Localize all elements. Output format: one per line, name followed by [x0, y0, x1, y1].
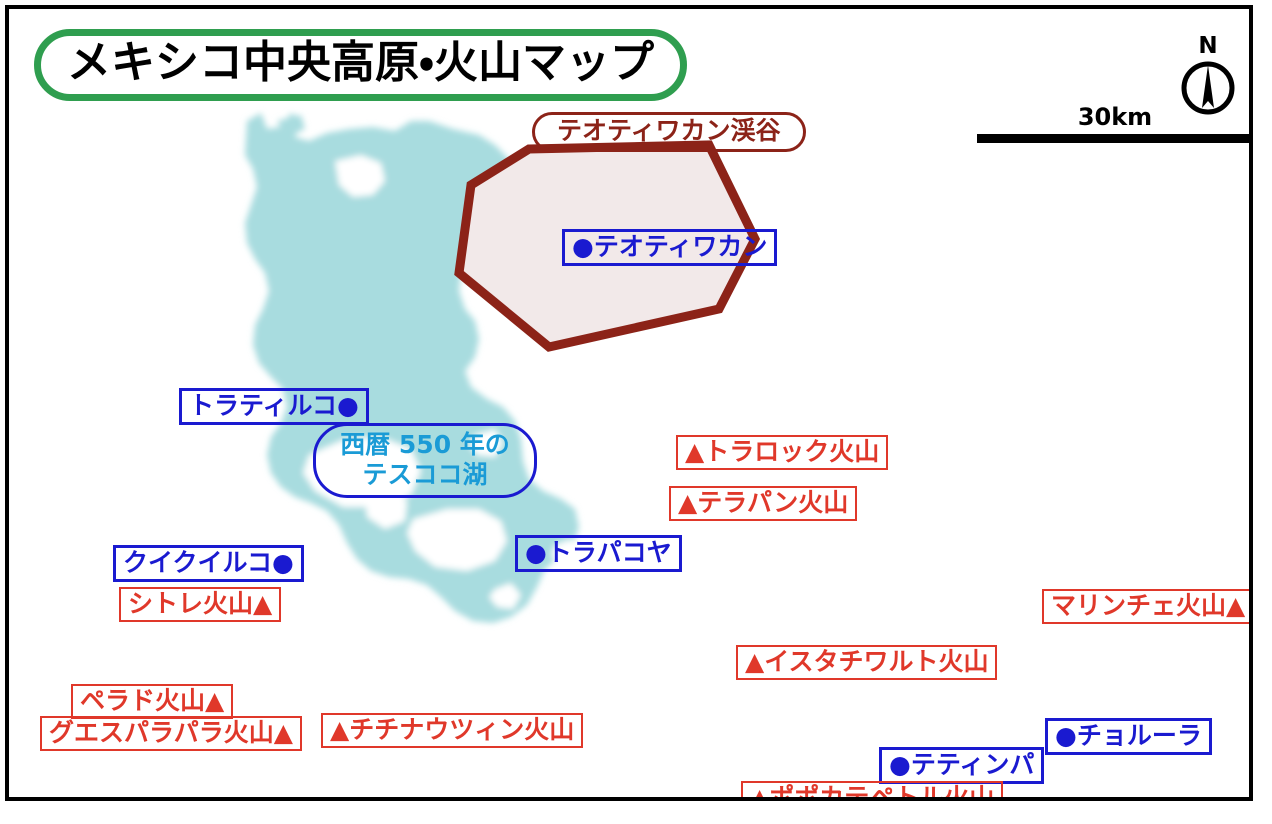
compass-north-label: N	[1177, 35, 1239, 58]
volcano-label-telapon[interactable]: ▲テラパン火山	[669, 486, 857, 521]
volcano-label-guespalapa[interactable]: グエスパラパラ火山▲	[40, 716, 302, 751]
lake-label-line2: テスココ湖	[334, 460, 516, 490]
volcano-label-tlaloc[interactable]: ▲トラロック火山	[676, 435, 888, 470]
site-label-tlatilco[interactable]: トラティルコ●	[179, 388, 369, 425]
volcano-label-iztaccihuatl[interactable]: ▲イスタチワルト火山	[736, 645, 997, 680]
site-label-tetimpa[interactable]: ●テティンパ	[879, 747, 1044, 784]
page-title: メキシコ中央高原・火山マップ	[34, 29, 687, 101]
volcano-label-malinche[interactable]: マリンチェ火山▲	[1042, 589, 1253, 624]
site-label-teotihuacan[interactable]: ●テオティワカン	[562, 229, 777, 266]
volcano-label-xitle[interactable]: シトレ火山▲	[119, 587, 281, 622]
site-label-cuicuilco[interactable]: クイクイルコ●	[113, 545, 304, 582]
volcano-label-pelado[interactable]: ペラド火山▲	[71, 684, 233, 719]
lake-label-texcoco[interactable]: 西暦 550 年の テスココ湖	[313, 423, 537, 498]
scale-bar-line	[977, 134, 1253, 143]
site-label-tlapacoya[interactable]: ●トラパコヤ	[515, 535, 682, 572]
map-frame: メキシコ中央高原・火山マップ N 30km テオティワカン渓谷 西暦 550 年…	[5, 5, 1253, 801]
region-label-teotihuacan-valley[interactable]: テオティワカン渓谷	[532, 112, 806, 152]
volcano-label-popocatepetl[interactable]: ▲ポポカテペトル火山	[741, 781, 1003, 801]
scale-label: 30km	[977, 105, 1253, 129]
site-label-cholula[interactable]: ●チョルーラ	[1045, 718, 1212, 755]
volcano-label-chichinautzin[interactable]: ▲チチナウツィン火山	[321, 713, 583, 748]
volcano-map-page: メキシコ中央高原・火山マップ N 30km テオティワカン渓谷 西暦 550 年…	[0, 0, 1272, 824]
lake-label-line1: 西暦 550 年の	[334, 430, 516, 460]
scale-bar-group: 30km	[977, 105, 1253, 143]
